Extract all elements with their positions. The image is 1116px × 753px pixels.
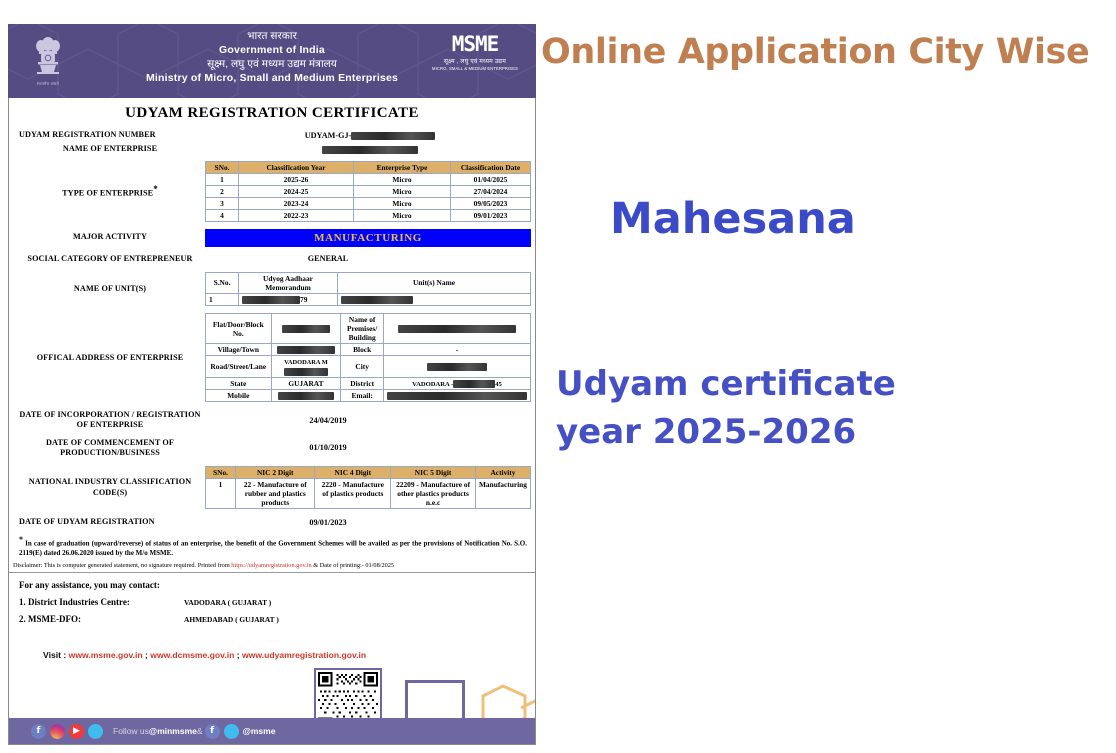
enterprise-name-row: NAME OF ENTERPRISE — [9, 144, 535, 154]
cell-unit-name — [338, 293, 531, 305]
nic-table: SNo. NIC 2 Digit NIC 4 Digit NIC 5 Digit… — [205, 466, 531, 509]
table-row: State GUJARAT District VADODARA -45 — [206, 377, 531, 389]
link-dcmsme-gov[interactable]: www.dcmsme.gov.in — [150, 650, 234, 660]
uam-redaction — [242, 296, 300, 304]
district-pin-visible: 45 — [495, 381, 502, 388]
footnote-text: In case of graduation (upward/reverse) o… — [19, 540, 527, 557]
road-redaction — [284, 368, 328, 376]
cell-date: 09/01/2023 — [451, 209, 531, 221]
visit-prefix: Visit : — [43, 650, 69, 660]
cell-nic-5: 22209 - Manufacture of other plastics pr… — [391, 479, 476, 509]
col-nic-2-digit: NIC 2 Digit — [236, 467, 315, 479]
district-visible-text: VADODARA - — [412, 381, 453, 388]
udyam-registration-date-value: 09/01/2023 — [205, 518, 535, 527]
nic-label: NATIONAL INDUSTRY CLASSIFICATION CODE(S) — [9, 477, 205, 498]
english-ministry-label: Ministry of Micro, Small and Medium Ente… — [8, 72, 536, 86]
unit-name-row: NAME OF UNIT(S) S.No. Udyog Aadhaar Memo… — [9, 272, 535, 306]
facebook-icon-secondary[interactable]: f — [205, 724, 220, 739]
cell-date: 09/05/2023 — [451, 197, 531, 209]
cell-year: 2025-26 — [239, 173, 354, 185]
cell-year: 2023-24 — [239, 197, 354, 209]
incorporation-date-value: 24/04/2019 — [205, 416, 535, 425]
certificate-title: UDYAM REGISTRATION CERTIFICATE — [9, 98, 535, 130]
social-category-label: SOCIAL CATEGORY OF ENTREPRENEUR — [9, 254, 205, 264]
major-activity-band-wrap: MANUFACTURING — [205, 229, 535, 247]
label-block: Block — [341, 344, 384, 356]
classification-table: SNo. Classification Year Enterprise Type… — [205, 161, 531, 222]
incorporation-date-label: DATE OF INCORPORATION / REGISTRATION OF … — [9, 410, 205, 431]
col-uam: Udyog Aadhaar Memorandum — [239, 272, 338, 293]
table-row: 1 2025-26 Micro 01/04/2025 — [206, 173, 531, 185]
udyam-registration-date-label: DATE OF UDYAM REGISTRATION — [9, 517, 205, 527]
label-district: District — [341, 377, 384, 389]
unit-name-label: NAME OF UNIT(S) — [9, 284, 205, 294]
contact-row-dic: 1. District Industries Centre: VADODARA … — [9, 590, 535, 607]
subtitle-line-1: Udyam certificate — [556, 360, 1026, 408]
registration-number-label: UDYAM REGISTRATION NUMBER — [9, 130, 205, 140]
cell-nic-2: 22 - Manufacture of rubber and plastics … — [236, 479, 315, 509]
cell-type: Micro — [354, 173, 451, 185]
cell-sno: 1 — [206, 173, 239, 185]
table-row: Road/Street/Lane VADODARA M City — [206, 356, 531, 377]
table-header-row: S.No. Udyog Aadhaar Memorandum Unit(s) N… — [206, 272, 531, 293]
value-block: - — [384, 344, 531, 356]
enterprise-name-value — [205, 145, 535, 154]
cell-nic-sno: 1 — [206, 479, 236, 509]
table-row: Mobile Email: — [206, 389, 531, 401]
table-row: 1 79 — [206, 293, 531, 305]
social-category-row: SOCIAL CATEGORY OF ENTREPRENEUR GENERAL — [9, 254, 535, 264]
col-nic-activity: Activity — [475, 467, 530, 479]
dfo-label: 2. MSME-DFO: — [19, 614, 184, 624]
link-msme-gov[interactable]: www.msme.gov.in — [69, 650, 143, 660]
handle-msme-text: @msme — [243, 726, 276, 736]
subtitle-block: Udyam certificate year 2025-2026 — [556, 360, 1026, 457]
enterprise-name-redaction — [322, 146, 418, 154]
value-village-town — [271, 344, 341, 356]
disclaimer-prefix: Disclaimer: This is computer generated s… — [13, 562, 231, 569]
cell-year: 2022-23 — [239, 209, 354, 221]
unit-table-wrap: S.No. Udyog Aadhaar Memorandum Unit(s) N… — [205, 272, 535, 306]
msme-logo-hindi-subtitle: सूक्ष्म , लघु एवं मध्यम उद्यम — [426, 57, 524, 65]
cell-nic-activity: Manufacturing — [475, 479, 530, 509]
classification-table-wrap: SNo. Classification Year Enterprise Type… — [205, 161, 535, 222]
value-mobile — [271, 389, 341, 401]
visit-sep-2: ; — [234, 650, 242, 660]
assistance-heading: For any assistance, you may contact: — [9, 573, 535, 590]
label-village-town: Village/Town — [206, 344, 272, 356]
label-mobile: Mobile — [206, 389, 272, 401]
unit-table: S.No. Udyog Aadhaar Memorandum Unit(s) N… — [205, 272, 531, 306]
udyam-certificate-image: सत्यमेव जयते भारत सरकार Government of In… — [8, 24, 536, 746]
value-premises — [384, 314, 531, 344]
cell-sno: 3 — [206, 197, 239, 209]
address-row: OFFICAL ADDRESS OF ENTERPRISE Flat/Door/… — [9, 313, 535, 402]
col-nic-4-digit: NIC 4 Digit — [315, 467, 391, 479]
cell-year: 2024-25 — [239, 185, 354, 197]
col-nic-5-digit: NIC 5 Digit — [391, 467, 476, 479]
msme-logo-glyph: MSME — [426, 34, 524, 55]
follow-us-text: Follow us — [113, 726, 149, 736]
registration-number-redaction — [351, 132, 435, 140]
village-redaction — [277, 346, 335, 354]
col-unit-sno: S.No. — [206, 272, 239, 293]
incorporation-date-row: DATE OF INCORPORATION / REGISTRATION OF … — [9, 410, 535, 431]
cell-uam: 79 — [239, 293, 338, 305]
type-of-enterprise-row: TYPE OF ENTERPRISE* SNo. Classification … — [9, 161, 535, 222]
asterisk-marker: * — [153, 184, 158, 194]
type-of-enterprise-label: TYPE OF ENTERPRISE* — [9, 184, 205, 199]
page-title: Online Application City Wise — [541, 32, 1113, 72]
address-table-wrap: Flat/Door/Block No. Name of Premises/ Bu… — [205, 313, 535, 402]
udyam-portal-link[interactable]: https://udyamregistration.gov.in — [231, 562, 311, 569]
col-nic-sno: SNo. — [206, 467, 236, 479]
col-unit-name: Unit(s) Name — [338, 272, 531, 293]
value-district: VADODARA -45 — [384, 377, 531, 389]
commencement-date-row: DATE OF COMMENCEMENT OF PRODUCTION/BUSIN… — [9, 438, 535, 459]
social-footer-band: f ▶ Follow us @minmsme & f @msme — [9, 718, 535, 744]
nic-table-wrap: SNo. NIC 2 Digit NIC 4 Digit NIC 5 Digit… — [205, 466, 535, 509]
handle-minmsme-text: @minmsme — [149, 726, 197, 736]
label-email: Email: — [341, 389, 384, 401]
col-classification-year: Classification Year — [239, 161, 354, 173]
registration-number-row: UDYAM REGISTRATION NUMBER UDYAM-GJ- — [9, 130, 535, 140]
major-activity-value: MANUFACTURING — [205, 229, 531, 247]
label-premises: Name of Premises/ Building — [341, 314, 384, 344]
label-state: State — [206, 377, 272, 389]
address-label: OFFICAL ADDRESS OF ENTERPRISE — [9, 353, 205, 363]
twitter-icon-secondary[interactable] — [224, 724, 239, 739]
mobile-redaction — [278, 392, 334, 400]
label-flat-door-block: Flat/Door/Block No. — [206, 314, 272, 344]
value-city — [384, 356, 531, 377]
unit-name-redaction — [341, 296, 413, 304]
value-state: GUJARAT — [271, 377, 341, 389]
dic-value: VADODARA ( GUJARAT ) — [184, 597, 271, 607]
twitter-icon[interactable] — [88, 724, 103, 739]
table-row: 3 2023-24 Micro 09/05/2023 — [206, 197, 531, 209]
table-row: Flat/Door/Block No. Name of Premises/ Bu… — [206, 314, 531, 344]
youtube-icon[interactable]: ▶ — [69, 724, 84, 739]
cell-type: Micro — [354, 197, 451, 209]
col-sno: SNo. — [206, 161, 239, 173]
col-classification-date: Classification Date — [451, 161, 531, 173]
value-flat-door-block — [271, 314, 341, 344]
udyam-registration-date-row: DATE OF UDYAM REGISTRATION 09/01/2023 — [9, 517, 535, 527]
type-of-enterprise-label-text: TYPE OF ENTERPRISE — [62, 188, 153, 197]
label-city: City — [341, 356, 384, 377]
cell-unit-sno: 1 — [206, 293, 239, 305]
cell-type: Micro — [354, 209, 451, 221]
cell-date: 27/04/2024 — [451, 185, 531, 197]
dic-label: 1. District Industries Centre: — [19, 597, 184, 607]
cell-nic-4: 2220 - Manufacture of plastics products — [315, 479, 391, 509]
link-udyamregistration-gov[interactable]: www.udyamregistration.gov.in — [242, 650, 366, 660]
col-enterprise-type: Enterprise Type — [354, 161, 451, 173]
table-row: Village/Town Block - — [206, 344, 531, 356]
handle-msme[interactable]: @msme — [243, 726, 276, 736]
subtitle-line-2: year 2025-2026 — [556, 408, 1026, 456]
disclaimer-line: Disclaimer: This is computer generated s… — [9, 559, 535, 574]
major-activity-row: MAJOR ACTIVITY MANUFACTURING — [9, 229, 535, 247]
commencement-date-value: 01/10/2019 — [205, 443, 535, 452]
email-redaction — [387, 392, 527, 400]
right-text-panel: Online Application City Wise Mahesana Ud… — [540, 0, 1116, 753]
major-activity-label: MAJOR ACTIVITY — [9, 232, 205, 242]
enterprise-name-label: NAME OF ENTERPRISE — [9, 144, 205, 154]
table-row: 2 2024-25 Micro 27/04/2024 — [206, 185, 531, 197]
city-redaction — [427, 363, 487, 371]
cell-date: 01/04/2025 — [451, 173, 531, 185]
contact-row-dfo: 2. MSME-DFO: AHMEDABAD ( GUJARAT ) — [9, 607, 535, 624]
registration-number-prefix: UDYAM-GJ- — [305, 131, 352, 140]
address-table: Flat/Door/Block No. Name of Premises/ Bu… — [205, 313, 531, 402]
value-road-street-lane: VADODARA M — [271, 356, 341, 377]
commencement-date-label: DATE OF COMMENCEMENT OF PRODUCTION/BUSIN… — [9, 438, 205, 459]
graduation-footnote: * In case of graduation (upward/reverse)… — [9, 531, 535, 558]
value-email — [384, 389, 531, 401]
city-name-heading: Mahesana — [610, 194, 856, 244]
disclaimer-suffix: & Date of printing:- 01/08/2025 — [312, 562, 394, 569]
table-header-row: SNo. Classification Year Enterprise Type… — [206, 161, 531, 173]
nic-row: NATIONAL INDUSTRY CLASSIFICATION CODE(S)… — [9, 466, 535, 509]
cell-sno: 2 — [206, 185, 239, 197]
dfo-value: AHMEDABAD ( GUJARAT ) — [184, 614, 279, 624]
table-row: 4 2022-23 Micro 09/01/2023 — [206, 209, 531, 221]
screenshot-root: सत्यमेव जयते भारत सरकार Government of In… — [0, 0, 1116, 753]
premises-redaction — [398, 325, 516, 333]
facebook-icon[interactable]: f — [31, 724, 46, 739]
instagram-icon[interactable] — [50, 724, 65, 739]
flat-redaction — [282, 325, 330, 333]
registration-number-value: UDYAM-GJ- — [205, 131, 535, 140]
handle-minmsme[interactable]: @minmsme — [149, 726, 197, 736]
social-category-value: GENERAL — [205, 254, 535, 263]
msme-logo-english-subtitle: MICRO, SMALL & MEDIUM ENTERPRISES — [426, 66, 524, 71]
uam-visible-suffix: 79 — [300, 295, 307, 304]
road-visible-text: VADODARA M — [284, 359, 328, 366]
msme-logo-icon: MSME सूक्ष्म , लघु एवं मध्यम उद्यम MICRO… — [426, 34, 524, 71]
certificate-header-band: सत्यमेव जयते भारत सरकार Government of In… — [8, 24, 536, 98]
table-header-row: SNo. NIC 2 Digit NIC 4 Digit NIC 5 Digit… — [206, 467, 531, 479]
certificate-body: UDYAM REGISTRATION CERTIFICATE UDYAM REG… — [8, 98, 536, 745]
visit-links-line: Visit : www.msme.gov.in ; www.dcmsme.gov… — [9, 624, 535, 660]
table-row: 1 22 - Manufacture of rubber and plastic… — [206, 479, 531, 509]
cell-type: Micro — [354, 185, 451, 197]
district-redaction — [453, 380, 495, 388]
label-road-street-lane: Road/Street/Lane — [206, 356, 272, 377]
ampersand-text: & — [197, 726, 203, 736]
footnote-asterisk: * — [19, 535, 23, 544]
cell-sno: 4 — [206, 209, 239, 221]
